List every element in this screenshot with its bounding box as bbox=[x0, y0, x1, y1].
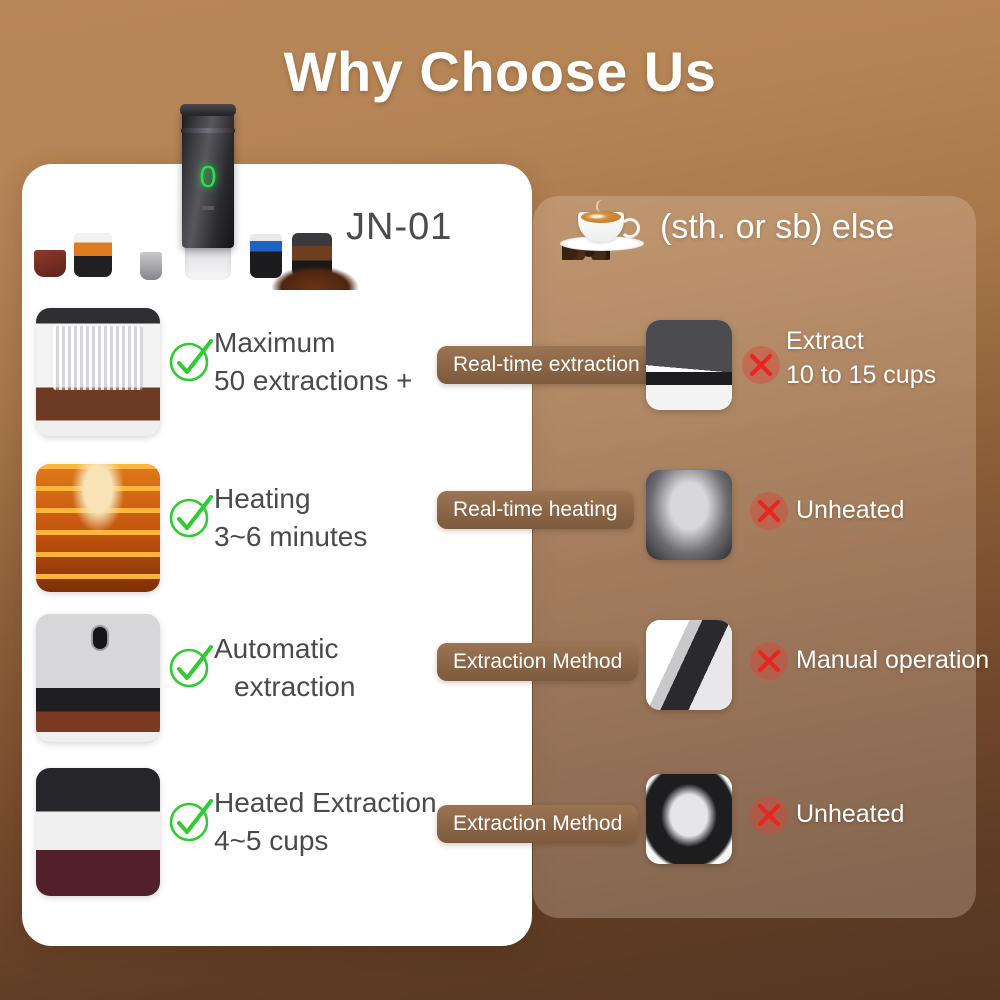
coffee-capsule-silver bbox=[140, 252, 162, 280]
feature-text: Maximum 50 extractions + bbox=[214, 324, 412, 400]
heated-extraction-thumb bbox=[36, 768, 160, 896]
competitor-text: Manual operation bbox=[796, 643, 989, 677]
feature-text-line2: 3~6 minutes bbox=[214, 518, 367, 556]
cross-icon bbox=[748, 640, 790, 682]
competitor-text-line1: Extract bbox=[786, 324, 936, 358]
comparison-row: Heated Extraction 4~5 cups Extraction Me… bbox=[0, 766, 1000, 906]
comparison-row: Automatic extraction Extraction Method M… bbox=[0, 612, 1000, 752]
machine-display-value: 0 bbox=[195, 160, 221, 194]
cup-handle-icon bbox=[620, 218, 640, 238]
feature-text-line1: Automatic bbox=[214, 630, 355, 668]
comparison-pill: Extraction Method bbox=[437, 805, 638, 843]
feature-text-line2: extraction bbox=[214, 668, 355, 706]
feature-text-line1: Maximum bbox=[214, 324, 412, 362]
cold-brew-thumb bbox=[646, 470, 732, 560]
competitor-label: (sth. or sb) else bbox=[660, 208, 894, 247]
competitor-text-line2: 10 to 15 cups bbox=[786, 358, 936, 392]
coffee-capsule-orange bbox=[74, 233, 112, 277]
feature-text-line1: Heated Extraction bbox=[214, 784, 437, 822]
competitor-text: Unheated bbox=[796, 493, 904, 527]
competitor-text-line1: Unheated bbox=[796, 493, 904, 527]
feature-text: Automatic extraction bbox=[214, 630, 355, 706]
feature-text-line2: 4~5 cups bbox=[214, 822, 437, 860]
comparison-pill: Real-time heating bbox=[437, 491, 634, 529]
latte-art-icon bbox=[581, 211, 621, 223]
comparison-row: Heating 3~6 minutes Real-time heating Un… bbox=[0, 462, 1000, 602]
comparison-pill: Extraction Method bbox=[437, 643, 638, 681]
check-icon bbox=[168, 336, 216, 384]
coffee-capsule-red bbox=[34, 250, 66, 277]
comparison-row: Maximum 50 extractions + Real-time extra… bbox=[0, 306, 1000, 446]
product-image: 0 bbox=[22, 100, 352, 290]
check-icon bbox=[168, 642, 216, 690]
filter-basket-thumb bbox=[646, 774, 732, 864]
coffee-chamber-thumb bbox=[36, 308, 160, 436]
competitor-text-line1: Manual operation bbox=[796, 643, 989, 677]
feature-text-line1: Heating bbox=[214, 480, 367, 518]
product-model-label: JN-01 bbox=[346, 206, 452, 249]
auto-machine-thumb bbox=[36, 614, 160, 742]
feature-text-line2: 50 extractions + bbox=[214, 362, 412, 400]
comparison-pill: Real-time extraction bbox=[437, 346, 656, 384]
hand-press-thumb bbox=[646, 620, 732, 710]
competitor-text: Extract 10 to 15 cups bbox=[786, 324, 936, 392]
machine-power-button bbox=[202, 206, 214, 210]
cross-icon bbox=[740, 344, 782, 386]
feature-text: Heated Extraction 4~5 cups bbox=[214, 784, 437, 860]
page-title: Why Choose Us bbox=[0, 44, 1000, 100]
coffee-grounds bbox=[272, 266, 358, 290]
espresso-machine-cap bbox=[180, 104, 236, 116]
espresso-machine-ring bbox=[181, 128, 235, 133]
heating-coil-thumb bbox=[36, 464, 160, 592]
french-press-thumb bbox=[646, 320, 732, 410]
poster-root: Why Choose Us 0 JN-01 (sth. or sb) else bbox=[0, 0, 1000, 1000]
competitor-text: Unheated bbox=[796, 797, 904, 831]
check-icon bbox=[168, 796, 216, 844]
check-icon bbox=[168, 492, 216, 540]
cross-icon bbox=[748, 490, 790, 532]
feature-text: Heating 3~6 minutes bbox=[214, 480, 367, 556]
competitor-header: (sth. or sb) else bbox=[556, 200, 976, 276]
cross-icon bbox=[748, 794, 790, 836]
competitor-text-line1: Unheated bbox=[796, 797, 904, 831]
